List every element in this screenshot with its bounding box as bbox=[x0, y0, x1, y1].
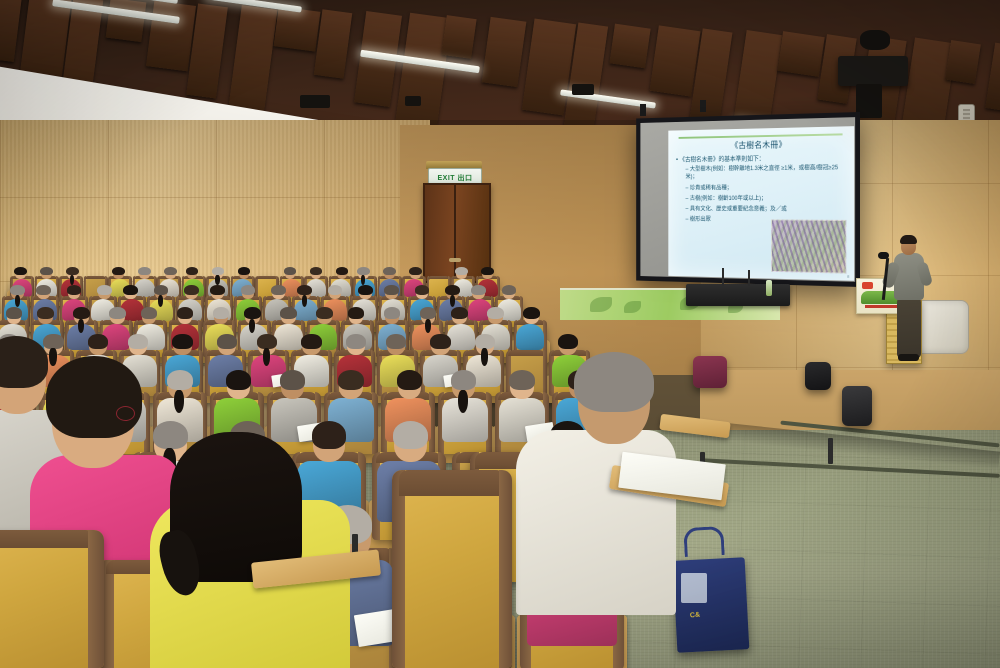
audience-ponytail bbox=[158, 295, 163, 307]
audience-hair bbox=[393, 421, 428, 449]
audience-hair bbox=[316, 307, 333, 319]
audience-hair bbox=[301, 334, 321, 349]
audience-hair bbox=[153, 421, 188, 449]
ceiling-slat bbox=[146, 0, 196, 71]
audience-hair bbox=[297, 285, 311, 295]
seat-leg bbox=[828, 438, 833, 464]
eyeglasses bbox=[116, 406, 135, 421]
purple-handbag[interactable] bbox=[693, 356, 727, 388]
audience-hair bbox=[280, 307, 297, 319]
tote-bag[interactable] bbox=[673, 557, 750, 653]
audience-hair bbox=[109, 307, 126, 319]
audience-hair bbox=[558, 334, 578, 349]
slide-bullet: – 古樹(例如：樹齡100年或以上)； bbox=[686, 195, 849, 203]
audience-hair bbox=[6, 307, 23, 319]
audience-ponytail bbox=[249, 319, 255, 333]
seat-headrest bbox=[85, 276, 106, 279]
audience-hair bbox=[487, 307, 504, 319]
audience-ponytail bbox=[481, 348, 489, 365]
audience-hair bbox=[445, 285, 459, 295]
audience-hair bbox=[280, 370, 306, 390]
audience-hair bbox=[164, 267, 177, 275]
audience-hair bbox=[184, 285, 198, 295]
table-microphone bbox=[722, 268, 724, 286]
slide-bullet: – 大型樹木(例如：樹幹離地1.3米之直徑 ≥1米，或樹高/樹冠≥25米)； bbox=[686, 164, 849, 181]
audience-ponytail bbox=[215, 275, 219, 285]
audience-hair bbox=[384, 307, 401, 319]
audience-hair bbox=[481, 267, 494, 275]
lecture-hall-photo: EXIT 出口 《古樹名木冊》 • 《古樹名木冊》的基本準則如下： – 大型樹木… bbox=[0, 0, 1000, 668]
audience-hair bbox=[509, 370, 535, 390]
audience-hair bbox=[73, 307, 90, 319]
audience-hair bbox=[523, 307, 540, 319]
slide-forest-photo bbox=[771, 219, 846, 273]
ceiling-fixture-mid bbox=[572, 84, 594, 95]
slide-lead-bullet: • 《古樹名木冊》的基本準則如下： bbox=[676, 152, 848, 163]
audience-hair bbox=[346, 334, 366, 349]
ceiling-slat bbox=[945, 40, 981, 84]
audience-hair bbox=[409, 267, 422, 275]
seat-headrest bbox=[508, 350, 544, 356]
slide-title: 《古樹名木冊》 bbox=[668, 137, 854, 152]
audience-hair bbox=[210, 285, 224, 295]
seat-headrest bbox=[256, 276, 277, 279]
table-microphone bbox=[748, 270, 750, 286]
door-center-split bbox=[454, 185, 456, 277]
audience-torso bbox=[516, 324, 544, 350]
audience-hair bbox=[238, 267, 251, 275]
water-bottle bbox=[766, 280, 772, 296]
audience-hair bbox=[217, 334, 237, 349]
audience-hair bbox=[328, 285, 342, 295]
audience-hair bbox=[271, 285, 285, 295]
audience-hair bbox=[37, 307, 54, 319]
audience-hair bbox=[226, 370, 252, 390]
audience-hair bbox=[348, 307, 365, 319]
audience-hair bbox=[338, 370, 364, 390]
audience-ponytail bbox=[425, 319, 431, 333]
wall-vent-panel bbox=[915, 300, 969, 354]
slide-bullet: – 具有文化、歷史或重要紀念意義；及／或 bbox=[686, 206, 849, 215]
audience-hair bbox=[451, 370, 477, 390]
audience-hair bbox=[241, 285, 255, 295]
audience-hair bbox=[451, 307, 468, 319]
audience-hair bbox=[358, 285, 372, 295]
audience-hair bbox=[154, 285, 168, 295]
tote-bag-handle bbox=[683, 526, 724, 557]
audience-hair bbox=[46, 356, 142, 438]
ceiling-slat bbox=[609, 23, 650, 68]
screen-mount-right bbox=[700, 100, 706, 112]
audience-hair bbox=[430, 334, 450, 349]
exit-sign-label: EXIT 出口 bbox=[437, 173, 472, 183]
audience-hair bbox=[475, 334, 495, 349]
audience-hair bbox=[336, 267, 349, 275]
audience-hair bbox=[284, 267, 297, 275]
audience-hair bbox=[386, 334, 406, 349]
slide-page-number: 8 bbox=[847, 274, 849, 279]
audience-hair bbox=[502, 285, 516, 295]
tote-bag-contents bbox=[681, 573, 707, 603]
audience-hair bbox=[244, 307, 261, 319]
auditorium-seat-foreground[interactable] bbox=[0, 530, 104, 668]
audience-hair bbox=[36, 285, 50, 295]
audience-hair bbox=[415, 285, 429, 295]
projection-screen: 《古樹名木冊》 • 《古樹名木冊》的基本準則如下： – 大型樹木(例如：樹幹離地… bbox=[636, 112, 860, 287]
audience-hair bbox=[420, 307, 437, 319]
black-handbag[interactable] bbox=[805, 362, 831, 390]
microphone-head bbox=[878, 252, 889, 259]
audience-hair bbox=[97, 285, 111, 295]
audience-hair bbox=[128, 334, 148, 349]
audience-torso bbox=[447, 324, 475, 350]
audience-hair bbox=[383, 267, 396, 275]
ceiling-speaker-left bbox=[300, 95, 330, 108]
audience-hair bbox=[257, 334, 277, 349]
audience-hair bbox=[312, 421, 347, 449]
ceiling-projector bbox=[838, 56, 908, 86]
audience-hair bbox=[357, 267, 370, 275]
door-handle[interactable] bbox=[449, 258, 461, 262]
audience-hair bbox=[186, 267, 199, 275]
seat-headrest bbox=[428, 276, 449, 279]
presenter-legs bbox=[897, 298, 921, 358]
audience-hair bbox=[574, 352, 654, 412]
audience-hair bbox=[177, 307, 194, 319]
audience-hair bbox=[138, 267, 151, 275]
slide-body: • 《古樹名木冊》的基本準則如下： – 大型樹木(例如：樹幹離地1.3米之直徑 … bbox=[676, 152, 848, 228]
audience-ponytail bbox=[263, 348, 271, 365]
ceiling-slat bbox=[441, 15, 476, 59]
audience-hair bbox=[40, 267, 53, 275]
audience-hair bbox=[66, 267, 79, 275]
audience-hair bbox=[213, 307, 230, 319]
audience-ponytail bbox=[458, 390, 468, 414]
audience-ponytail bbox=[450, 295, 455, 307]
audience-hair bbox=[123, 285, 137, 295]
seat-headrest bbox=[0, 530, 95, 548]
audience-ponytail bbox=[49, 348, 57, 365]
audience-hair bbox=[310, 267, 323, 275]
seat-headrest bbox=[399, 470, 505, 496]
audience-hair bbox=[212, 267, 225, 275]
audience-hair bbox=[384, 285, 398, 295]
audience-hair bbox=[43, 334, 63, 349]
audience-hair bbox=[455, 267, 468, 275]
ceiling-slat bbox=[274, 6, 321, 51]
tote-bag-text: C& bbox=[690, 611, 701, 619]
audience-hair bbox=[141, 307, 158, 319]
audience-hair bbox=[172, 334, 192, 349]
floor-backpack[interactable] bbox=[842, 386, 872, 426]
audience-torso bbox=[274, 324, 302, 350]
screen-mount-left bbox=[640, 104, 646, 116]
audience-hair bbox=[10, 285, 24, 295]
presentation-slide: 《古樹名木冊》 • 《古樹名木冊》的基本準則如下： – 大型樹木(例如：樹幹離地… bbox=[668, 126, 854, 281]
audience-hair bbox=[397, 370, 423, 390]
audience-hair bbox=[167, 370, 193, 390]
presenter-shoes bbox=[898, 354, 919, 361]
audience-hair bbox=[67, 285, 81, 295]
ceiling-camera bbox=[860, 30, 890, 50]
auditorium-seat-foreground[interactable] bbox=[392, 470, 512, 668]
audience-ponytail bbox=[15, 295, 20, 307]
presenter-hair bbox=[900, 235, 917, 244]
audience-hair bbox=[88, 334, 108, 349]
ceiling-slat bbox=[777, 31, 824, 77]
ceiling-fixture-left bbox=[405, 96, 421, 106]
audience-hair bbox=[112, 267, 125, 275]
audience-ponytail bbox=[78, 319, 84, 333]
slide-bullet: – 珍貴或稀有品種； bbox=[686, 184, 849, 193]
audience-ponytail bbox=[302, 295, 307, 307]
audience-hair bbox=[471, 285, 485, 295]
audience-hair bbox=[14, 267, 27, 275]
front-presentation-table bbox=[686, 284, 790, 306]
